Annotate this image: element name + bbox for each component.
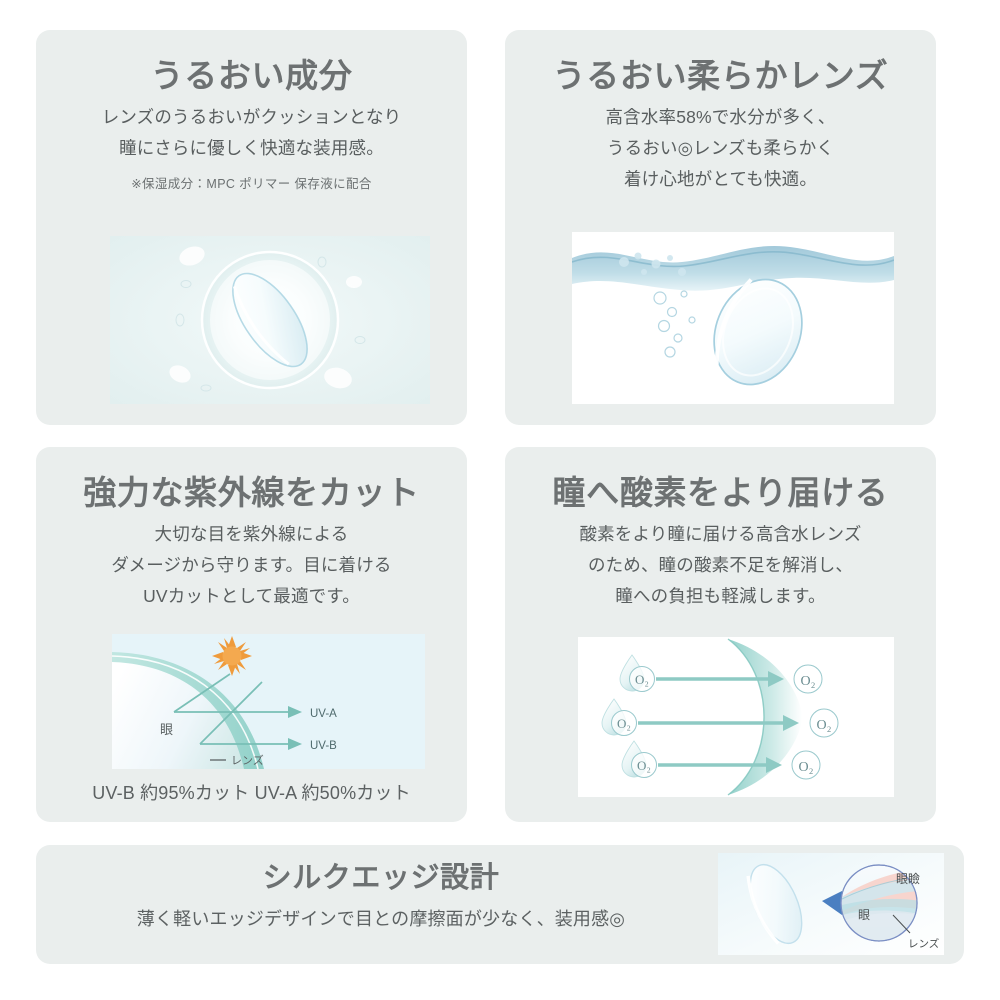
diagram-oxygen-permeability: O₂ O₂ O₂	[578, 637, 894, 797]
droplet-o2-label-1: O₂	[635, 672, 649, 687]
droplet-o2-label-3: O₂	[637, 758, 651, 773]
droplet-o2-label-2: O₂	[617, 716, 631, 731]
card-title-uv: 強力な紫外線をカット	[36, 447, 467, 511]
card-body-uv: 大切な目を紫外線による ダメージから守ります。目に着ける UVカットとして最適で…	[36, 511, 467, 611]
card-title-moisture: うるおい成分	[36, 30, 467, 94]
uv-cut-caption: UV-B 約95%カット UV-A 約50%カット	[36, 779, 467, 805]
water-splash-illustration	[572, 232, 894, 404]
card-body-oxygen: 酸素をより瞳に届ける高含水レンズ のため、瞳の酸素不足を解消し、 瞳への負担も軽…	[505, 511, 936, 611]
infographic-page: うるおい成分 レンズのうるおいがクッションとなり 瞳にさらに優しく快適な装用感。…	[0, 0, 1000, 1000]
output-o2-label-2: O₂	[817, 718, 832, 733]
diagram-uv-protection: UV-A UV-B 眼 レンズ	[112, 634, 425, 769]
body-line-1: 酸素をより瞳に届ける高含水レンズ	[579, 524, 861, 544]
image-lens-in-droplet	[110, 236, 430, 404]
lens-label-silk: レンズ	[908, 937, 939, 950]
eye-label-silk: 眼	[858, 908, 870, 922]
body-line-2: ダメージから守ります。目に着ける	[111, 555, 391, 575]
sun-icon	[212, 636, 252, 676]
body-line-2: 瞳にさらに優しく快適な装用感。	[119, 138, 384, 158]
lens-label: レンズ	[231, 753, 264, 767]
silk-edge-text-block: シルクエッジ設計 薄く軽いエッジデザインで目との摩擦面が少なく、装用感◎	[36, 845, 726, 964]
image-lens-water-splash	[572, 232, 894, 404]
oxygen-diagram: O₂ O₂ O₂	[578, 637, 894, 797]
output-o2-label-1: O₂	[801, 674, 816, 689]
eye-label: 眼	[160, 722, 173, 737]
body-line-3: UVカットとして最適です。	[143, 586, 360, 606]
eyelid-label: 眼瞼	[896, 872, 920, 886]
card-note-moisture: ※保湿成分：MPC ポリマー 保存液に配合	[36, 164, 467, 192]
body-line-1: 大切な目を紫外線による	[155, 524, 349, 544]
uv-a-label: UV-A	[310, 708, 337, 720]
card-title-oxygen: 瞳へ酸素をより届ける	[505, 447, 936, 511]
output-o2-label-3: O₂	[799, 760, 814, 775]
body-line-1: 高含水率58%で水分が多く、	[606, 107, 836, 127]
uv-b-label: UV-B	[310, 740, 337, 752]
body-line-3: 着け心地がとても快適。	[624, 169, 817, 189]
card-body-moisture: レンズのうるおいがクッションとなり 瞳にさらに優しく快適な装用感。	[36, 94, 467, 163]
diagram-silk-edge: 眼瞼 眼 レンズ	[718, 853, 944, 955]
body-line-2: うるおい◎レンズも柔らかく	[607, 138, 834, 158]
silk-edge-illustration: 眼瞼 眼 レンズ	[718, 853, 944, 955]
body-line-3: 瞳への負担も軽減します。	[615, 586, 825, 606]
lens-droplet-illustration	[110, 236, 430, 404]
card-body-silk: 薄く軽いエッジデザインで目との摩擦面が少なく、装用感◎	[36, 895, 726, 931]
body-line-1: レンズのうるおいがクッションとなり	[102, 107, 402, 127]
card-body-soft: 高含水率58%で水分が多く、 うるおい◎レンズも柔らかく 着け心地がとても快適。	[505, 94, 936, 194]
uv-diagram: UV-A UV-B 眼 レンズ	[112, 634, 425, 769]
card-title-silk: シルクエッジ設計	[36, 845, 726, 895]
body-line-2: のため、瞳の酸素不足を解消し、	[588, 555, 853, 575]
card-title-soft: うるおい柔らかレンズ	[505, 30, 936, 94]
